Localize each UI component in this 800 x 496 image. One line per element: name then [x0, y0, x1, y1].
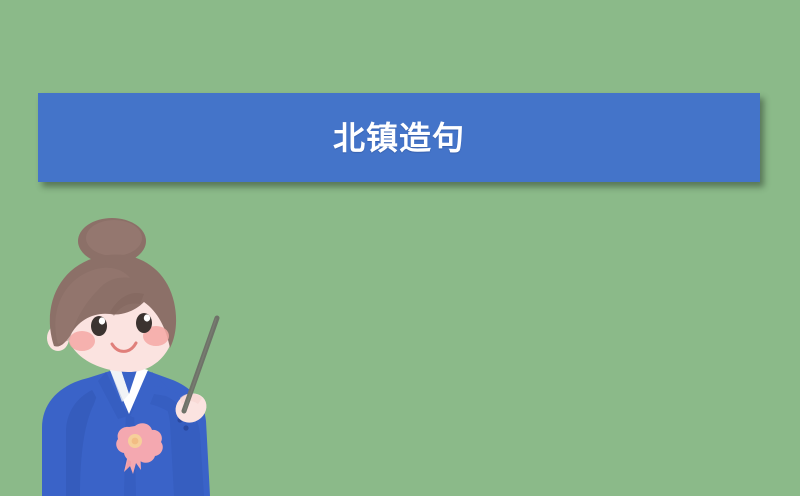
- teacher-illustration: [14, 218, 244, 496]
- page-title: 北镇造句: [333, 122, 465, 154]
- slide-canvas: 北镇造句: [0, 0, 800, 496]
- title-banner: 北镇造句: [38, 93, 760, 182]
- teacher-figure-svg: [14, 218, 244, 496]
- cuff-button-2: [183, 425, 188, 430]
